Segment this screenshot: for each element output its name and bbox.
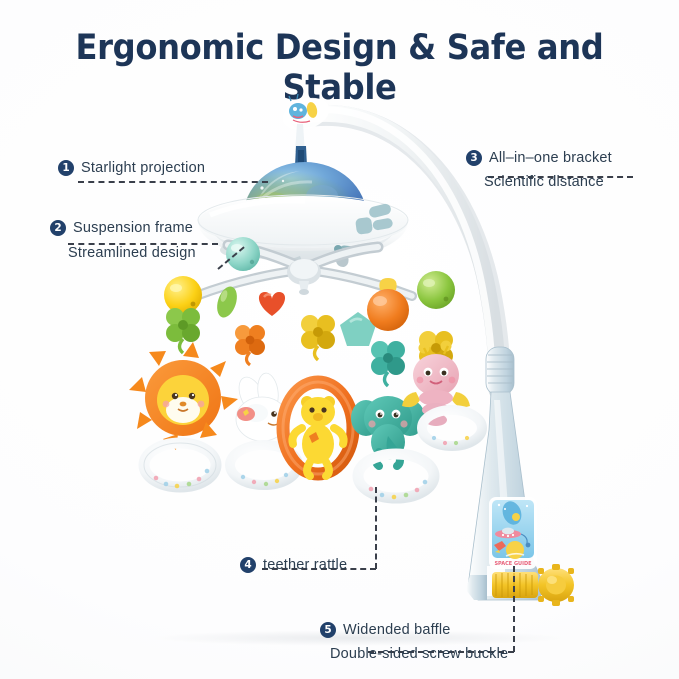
callout-4: 4 teether rattle (240, 557, 347, 573)
scene-background: Ergonomic Design & Safe and Stable (0, 0, 679, 679)
callout-label-3: All–in–one bracket (489, 150, 612, 166)
bear-ring-toy[interactable] (283, 382, 353, 476)
callout-2: 2 Suspension frame Streamlined design (50, 220, 196, 261)
callout-badge-3: 3 (466, 150, 482, 166)
connector-5-vert (513, 566, 515, 652)
bracket-post: SPACE GUIDE (466, 347, 574, 606)
mint-bead (226, 237, 260, 271)
top-decor-tag (279, 92, 334, 135)
teether-ring[interactable] (144, 443, 216, 488)
callout-label-5: Widended baffle (343, 622, 451, 638)
callout-sublabel-3: Scientific distance (484, 174, 612, 190)
callout-5: 5 Widended baffle Double-sided screw buc… (320, 622, 508, 662)
callout-sublabel-2: Streamlined design (68, 245, 196, 261)
callout-badge-5: 5 (320, 622, 336, 638)
connector-1 (78, 181, 268, 183)
yellow-bead (164, 276, 202, 314)
callout-sublabel-5: Double-sided screw buckle (330, 646, 508, 662)
callout-3: 3 All–in–one bracket Scientific distance (466, 150, 612, 190)
callout-badge-4: 4 (240, 557, 256, 573)
callout-badge-2: 2 (50, 220, 66, 236)
callout-label-4: teether rattle (263, 557, 347, 573)
bracket-sticker: SPACE GUIDE (489, 497, 537, 569)
product-illustration: SPACE GUIDE (0, 0, 679, 679)
green-bead (417, 271, 455, 309)
toy-strand-bear (283, 290, 353, 476)
callout-1: 1 Starlight projection (58, 160, 205, 176)
callout-label-2: Suspension frame (73, 220, 193, 236)
callout-label-1: Starlight projection (81, 160, 205, 176)
heart-bead (259, 292, 285, 316)
bracket-collar (486, 347, 514, 395)
teether-ring[interactable] (422, 410, 482, 446)
callout-badge-1: 1 (58, 160, 74, 176)
connector-4-vert (375, 487, 377, 569)
